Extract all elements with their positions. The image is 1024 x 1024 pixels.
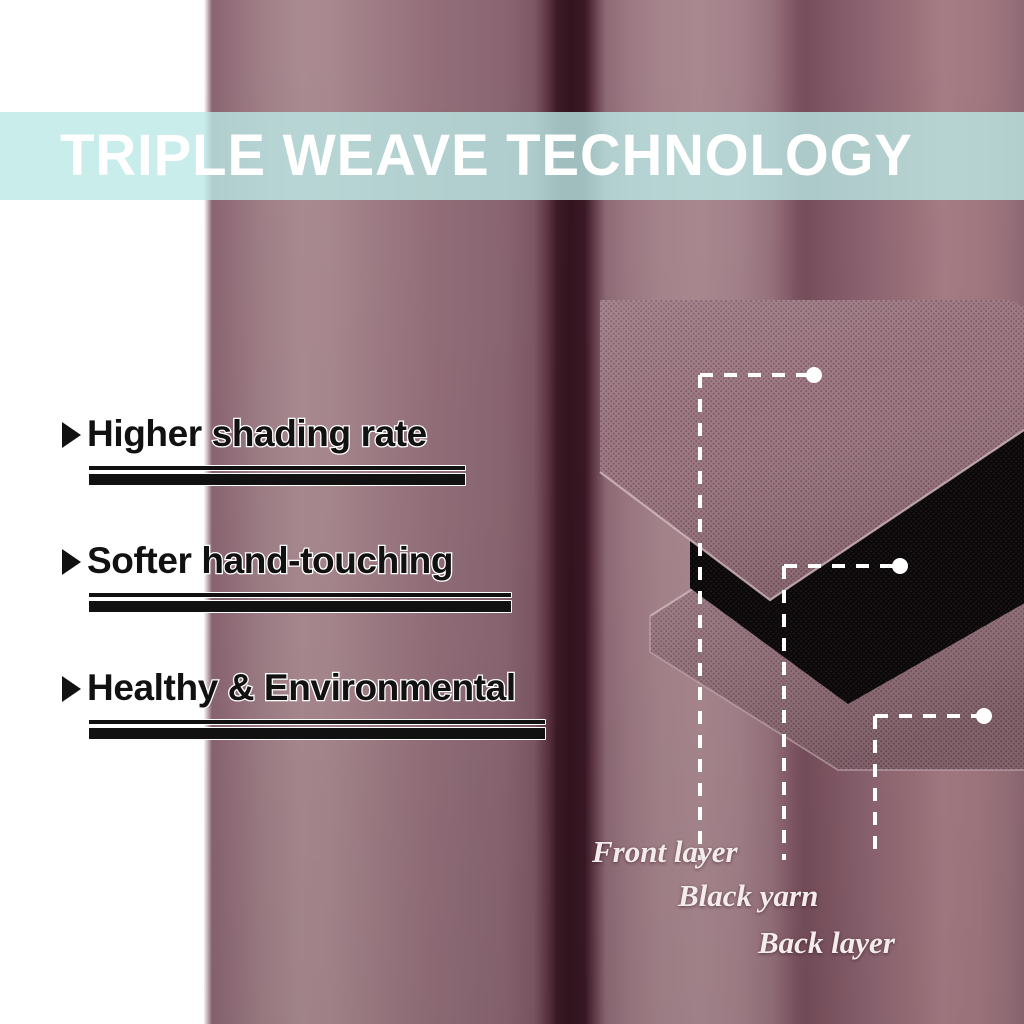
label-front-layer: Front layer [592, 834, 738, 870]
triangle-right-icon [62, 549, 81, 575]
feature-label: Higher shading rate [87, 415, 427, 454]
feature-item-softer-hand-touching: Softer hand-touching [62, 542, 582, 613]
feature-label: Healthy & Environmental [87, 669, 516, 708]
label-black-yarn: Black yarn [678, 878, 818, 914]
feature-item-healthy-environmental: Healthy & Environmental [62, 669, 582, 740]
feature-list: Higher shading rate Softer hand-touching… [62, 415, 582, 796]
product-feature-image: Front layer Black yarn Back layer TRIPLE… [0, 0, 1024, 1024]
triangle-right-icon [62, 422, 81, 448]
label-back-layer: Back layer [758, 925, 895, 961]
feature-label: Softer hand-touching [87, 542, 453, 581]
feature-item-higher-shading-rate: Higher shading rate [62, 415, 582, 486]
white-dot-icon [892, 558, 908, 574]
white-dot-icon [806, 367, 822, 383]
triangle-right-icon [62, 676, 81, 702]
underline-thin [88, 465, 466, 471]
feature-underline [88, 592, 512, 613]
headline-banner: TRIPLE WEAVE TECHNOLOGY [0, 112, 1024, 200]
underline-thin [88, 719, 546, 725]
underline-thin [88, 592, 512, 598]
white-dot-icon [976, 708, 992, 724]
fabric-layer-diagram [590, 300, 1024, 860]
feature-underline [88, 719, 546, 740]
underline-thick [88, 600, 512, 613]
page-title: TRIPLE WEAVE TECHNOLOGY [0, 127, 913, 185]
underline-thick [88, 473, 466, 486]
feature-underline [88, 465, 466, 486]
underline-thick [88, 727, 546, 740]
